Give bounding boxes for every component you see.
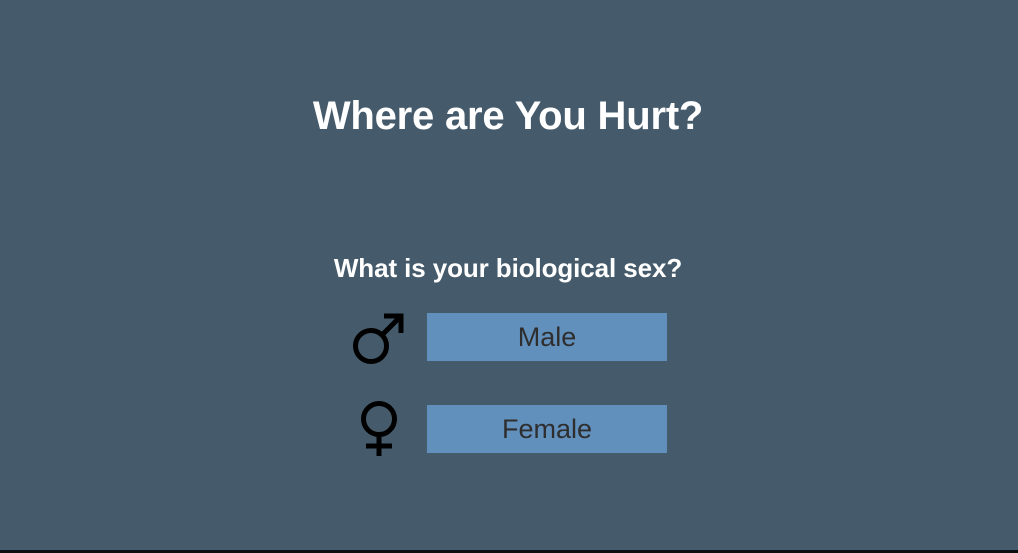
venus-symbol-icon: [349, 398, 409, 460]
app-screen: Where are You Hurt? What is your biologi…: [0, 0, 1018, 550]
question-label: What is your biological sex?: [334, 255, 682, 281]
sex-option-male-button[interactable]: Male: [427, 313, 667, 361]
page-title: Where are You Hurt?: [313, 96, 703, 136]
sex-option-female-button[interactable]: Female: [427, 405, 667, 453]
option-row-female: Female: [349, 405, 667, 453]
content-column: Where are You Hurt? What is your biologi…: [0, 0, 1016, 550]
option-row-male: Male: [349, 313, 667, 361]
sex-options-group: Male Female: [349, 313, 667, 453]
mars-symbol-icon: [349, 306, 409, 368]
